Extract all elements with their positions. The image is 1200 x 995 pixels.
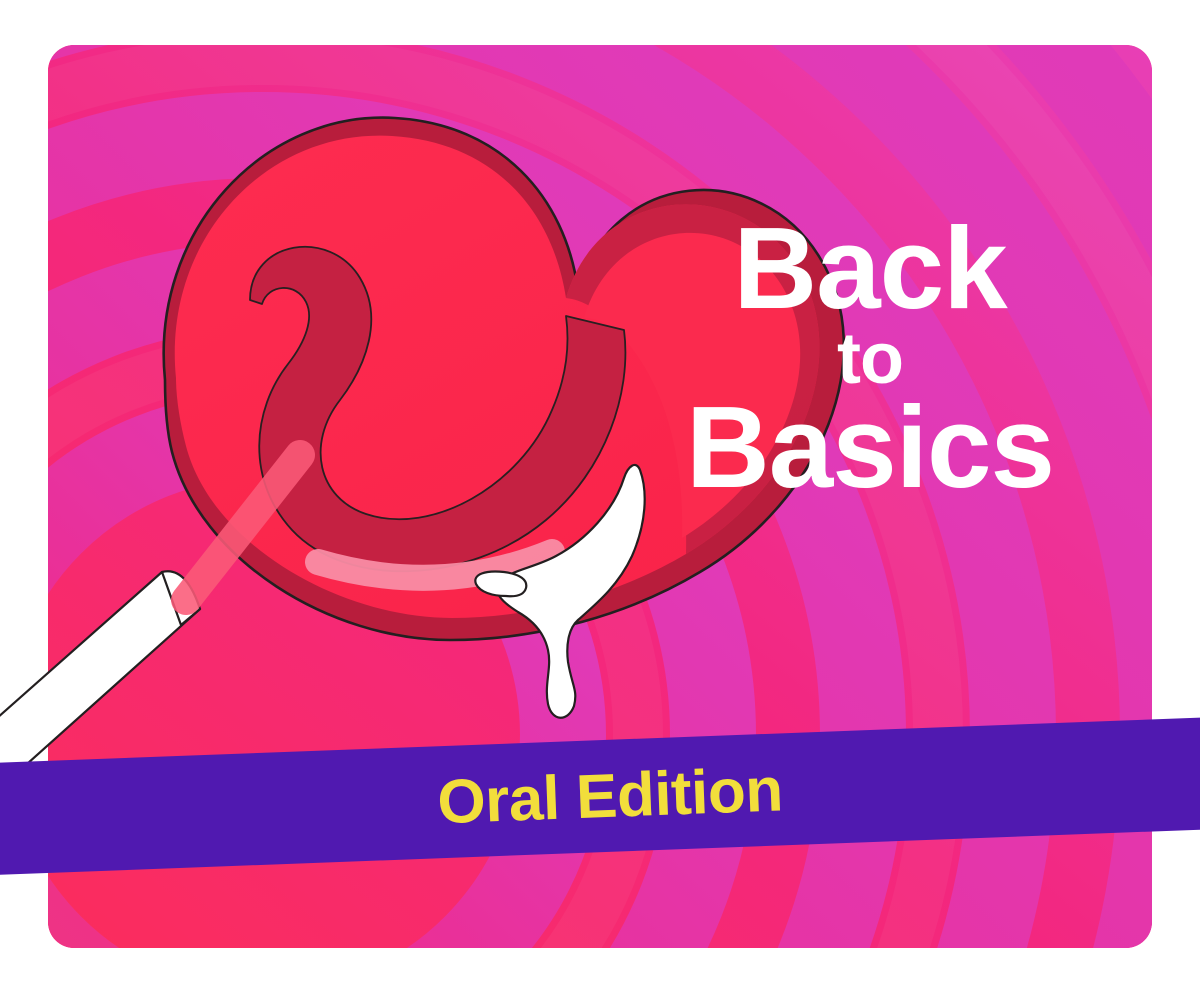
headline-line-1: Back <box>660 215 1080 322</box>
promo-banner-canvas: Back to Basics Oral Edition <box>0 0 1200 995</box>
edition-banner-label: Oral Edition <box>426 754 784 838</box>
headline-block: Back to Basics <box>660 215 1080 501</box>
headline-line-3: Basics <box>660 394 1080 501</box>
